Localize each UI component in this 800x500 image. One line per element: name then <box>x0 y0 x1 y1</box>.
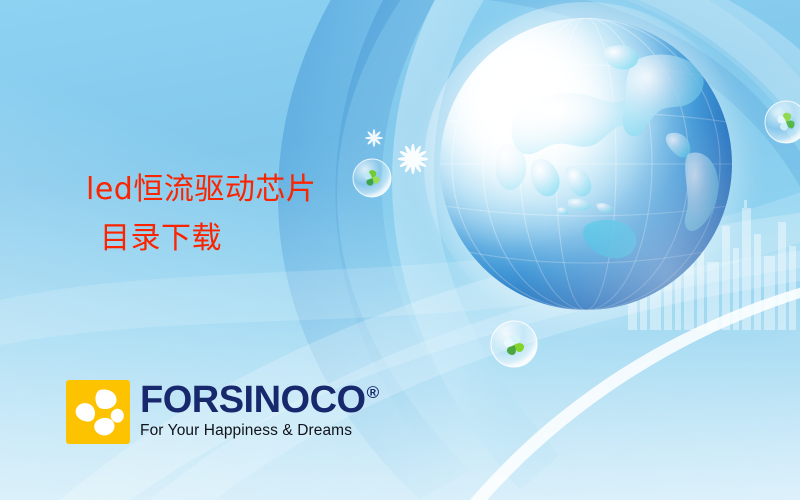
headline-text: led恒流驱动芯片 目录下载 <box>86 166 416 263</box>
headline-line-2: 目录下载 <box>86 215 416 264</box>
logo-wordmark-text: FORSINOCO <box>140 382 366 419</box>
logo-tagline: For Your Happiness & Dreams <box>140 422 379 440</box>
earth-globe-icon <box>440 18 732 310</box>
company-logo: FORSINOCO ® For Your Happiness & Dreams <box>66 380 379 444</box>
headline-line-1: led恒流驱动芯片 <box>86 172 316 207</box>
banner-canvas: led恒流驱动芯片 目录下载 FORSINOCO ® For Your Happ… <box>0 0 800 500</box>
sparkle-small-icon <box>364 128 384 148</box>
bubble-pinwheel-right <box>764 100 800 144</box>
logo-text-block: FORSINOCO ® For Your Happiness & Dreams <box>140 380 379 440</box>
globe-sphere <box>440 18 732 310</box>
registered-trademark-icon: ® <box>367 384 379 401</box>
bubble-pinwheel-center <box>490 320 538 368</box>
logo-wordmark: FORSINOCO ® <box>140 382 379 419</box>
four-petal-flower-icon <box>66 380 130 444</box>
